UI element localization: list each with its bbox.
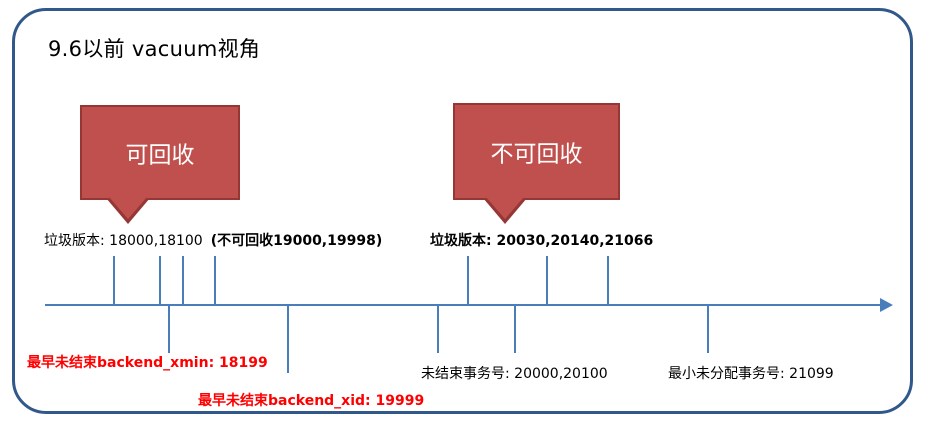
callout-non-recyclable: 不可回收 xyxy=(453,103,620,200)
callout-non-recyclable-label: 不可回收 xyxy=(455,134,618,168)
callout-recyclable: 可回收 xyxy=(80,105,240,200)
garbage-left-prefix: 垃圾版本: xyxy=(44,233,109,249)
annotation-unfinished-xids: 未结束事务号: 20000,20100 xyxy=(421,363,608,383)
tick-below-backend-xid xyxy=(287,305,289,373)
tick-below-backend-xmin xyxy=(168,305,170,353)
tick-above-1 xyxy=(113,256,115,305)
garbage-left-values: 18000,18100 xyxy=(109,233,203,249)
axis-right-arrow-icon xyxy=(880,298,893,312)
tick-below-unfinished-xids xyxy=(437,305,439,353)
garbage-right-prefix: 垃圾版本: xyxy=(430,233,496,249)
garbage-right-values: 20030,20140,21066 xyxy=(496,233,653,249)
slide-canvas: 9.6以前 vacuum视角 可回收 不可回收 垃圾版本: 18000,1810… xyxy=(0,0,929,430)
tick-below-unfinished-xids-2 xyxy=(514,305,516,353)
annotation-backend-xmin: 最早未结束backend_xmin: 18199 xyxy=(27,352,268,372)
page-title: 9.6以前 vacuum视角 xyxy=(48,33,260,63)
callout-recyclable-label: 可回收 xyxy=(82,135,238,169)
annotation-min-unallocated-xid: 最小未分配事务号: 21099 xyxy=(668,363,834,383)
annotation-backend-xid: 最早未结束backend_xid: 19999 xyxy=(198,390,424,410)
tick-below-min-unallocated xyxy=(707,305,709,353)
tick-above-3 xyxy=(182,256,184,305)
garbage-left-note: (不可回收19000,19998) xyxy=(211,233,383,249)
garbage-version-label-right: 垃圾版本: 20030,20140,21066 xyxy=(430,230,653,250)
tick-above-2 xyxy=(159,256,161,305)
callout-non-recyclable-tail-fill xyxy=(486,197,524,219)
timeline-axis xyxy=(45,304,885,306)
tick-above-6 xyxy=(546,256,548,305)
callout-recyclable-tail-fill xyxy=(109,197,147,219)
tick-above-5 xyxy=(467,256,469,305)
garbage-version-label-left: 垃圾版本: 18000,18100(不可回收19000,19998) xyxy=(44,230,382,250)
tick-above-4 xyxy=(214,256,216,305)
tick-above-7 xyxy=(607,256,609,305)
